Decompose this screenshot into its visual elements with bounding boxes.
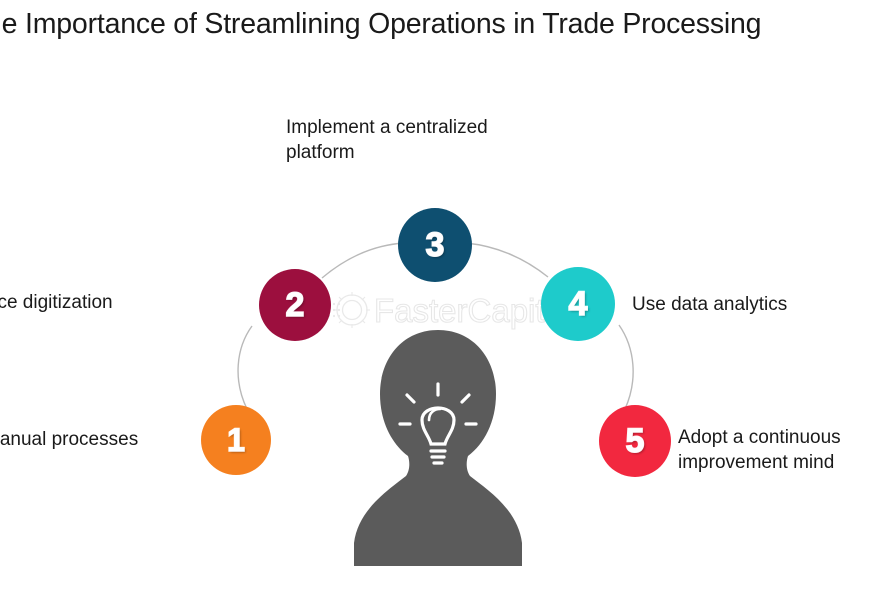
step-number-2: 2 — [286, 288, 305, 322]
arc-2-3 — [322, 243, 404, 278]
arc-1-2 — [238, 326, 252, 409]
person-lightbulb-icon — [352, 328, 524, 568]
step-label-4: Use data analytics — [632, 292, 870, 317]
head-shoulders-shape — [354, 330, 522, 566]
step-number-3: 3 — [426, 228, 445, 262]
step-node-5[interactable]: 5 — [599, 405, 671, 477]
step-node-2[interactable]: 2 — [259, 269, 331, 341]
step-label-1: manual processes — [0, 427, 214, 452]
infographic-canvas: he Importance of Streamlining Operations… — [0, 0, 870, 600]
step-node-4[interactable]: 4 — [541, 267, 615, 341]
arc-3-4 — [466, 243, 548, 277]
arc-4-5 — [619, 325, 633, 409]
step-label-2: brace digitization — [0, 290, 205, 315]
step-number-5: 5 — [626, 424, 645, 458]
page-title: he Importance of Streamlining Operations… — [0, 8, 870, 41]
step-number-4: 4 — [569, 287, 588, 321]
step-label-3: Implement a centralized platform — [286, 115, 556, 165]
step-number-1: 1 — [227, 424, 245, 456]
diagram-stage: FasterCapital 1 — [0, 60, 870, 600]
step-label-5: Adopt a continuous improvement mind — [678, 425, 870, 475]
step-node-3[interactable]: 3 — [398, 208, 472, 282]
